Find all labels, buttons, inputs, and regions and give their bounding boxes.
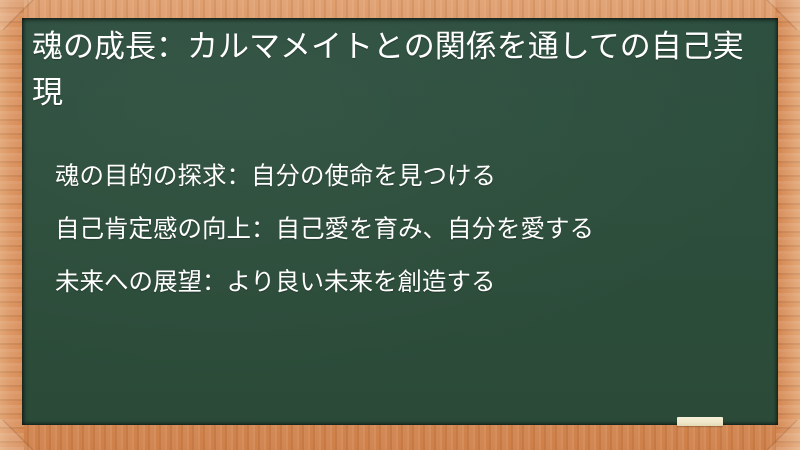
slide-title: 魂の成長：カルマメイトとの関係を通しての自己実現 xyxy=(32,24,744,116)
list-item: 魂の目的の探求：自分の使命を見つける xyxy=(55,150,755,203)
wooden-frame-left-plank xyxy=(0,0,24,450)
chalkboard-slide: 魂の成長：カルマメイトとの関係を通しての自己実現 魂の目的の探求：自分の使命を見… xyxy=(0,0,800,450)
slide-bullet-list: 魂の目的の探求：自分の使命を見つける 自己肯定感の向上：自己愛を育み、自分を愛す… xyxy=(55,150,755,309)
list-item: 自己肯定感の向上：自己愛を育み、自分を愛する xyxy=(55,203,755,256)
list-item: 未来への展望：より良い未来を創造する xyxy=(55,256,755,309)
chalk-stick xyxy=(677,417,723,426)
chalkboard-surface: 魂の成長：カルマメイトとの関係を通しての自己実現 魂の目的の探求：自分の使命を見… xyxy=(22,18,778,425)
wooden-frame-right-plank xyxy=(776,0,800,450)
